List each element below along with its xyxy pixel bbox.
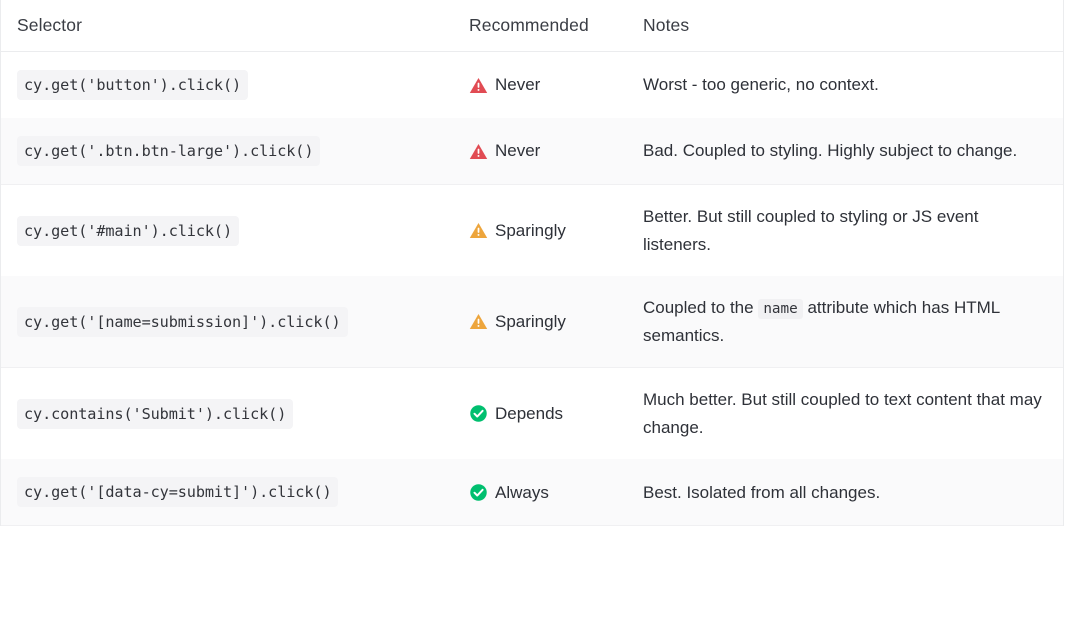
table-row: cy.get('button').click()NeverWorst - too… [1,52,1063,119]
cell-selector: cy.get('#main').click() [1,185,457,277]
selector-code-chip: cy.get('button').click() [17,70,248,100]
column-header-selector: Selector [1,0,457,52]
cell-notes: Much better. But still coupled to text c… [633,368,1063,460]
selector-code-chip: cy.get('.btn.btn-large').click() [17,136,320,166]
selector-recommendations-table-container: Selector Recommended Notes cy.get('butto… [0,0,1064,526]
table-row: cy.get('[name=submission]').click()Spari… [1,276,1063,368]
recommendation-badge: Sparingly [469,308,629,336]
warning-triangle-icon [469,76,488,95]
table-header-row: Selector Recommended Notes [1,0,1063,52]
cell-selector: cy.get('button').click() [1,52,457,119]
recommendation-label: Sparingly [495,308,566,336]
cell-recommended: Never [457,118,633,185]
table-row: cy.contains('Submit').click()DependsMuch… [1,368,1063,460]
recommendation-label: Never [495,137,540,165]
recommendation-label: Never [495,71,540,99]
cell-recommended: Always [457,459,633,526]
cell-selector: cy.get('[name=submission]').click() [1,276,457,368]
notes-text: Much better. But still coupled to text c… [643,390,1042,437]
warning-triangle-icon [469,312,488,331]
table-body: cy.get('button').click()NeverWorst - too… [1,52,1063,526]
recommendation-label: Sparingly [495,217,566,245]
check-circle-icon [469,404,488,423]
recommendation-badge: Never [469,137,629,165]
cell-notes: Coupled to the name attribute which has … [633,276,1063,368]
table-header: Selector Recommended Notes [1,0,1063,52]
cell-recommended: Depends [457,368,633,460]
table-row: cy.get('.btn.btn-large').click()NeverBad… [1,118,1063,185]
cell-selector: cy.contains('Submit').click() [1,368,457,460]
recommendation-badge: Always [469,479,629,507]
check-circle-icon [469,483,488,502]
selector-recommendations-table: Selector Recommended Notes cy.get('butto… [1,0,1063,526]
notes-text: Coupled to the [643,298,758,317]
cell-notes: Better. But still coupled to styling or … [633,185,1063,277]
warning-triangle-icon [469,221,488,240]
cell-notes: Bad. Coupled to styling. Highly subject … [633,118,1063,185]
cell-selector: cy.get('[data-cy=submit]').click() [1,459,457,526]
cell-selector: cy.get('.btn.btn-large').click() [1,118,457,185]
cell-recommended: Sparingly [457,185,633,277]
notes-text: Better. But still coupled to styling or … [643,207,978,254]
selector-code-chip: cy.contains('Submit').click() [17,399,293,429]
column-header-notes: Notes [633,0,1063,52]
recommendation-badge: Sparingly [469,217,629,245]
recommendation-badge: Never [469,71,629,99]
selector-code-chip: cy.get('#main').click() [17,216,239,246]
recommendation-badge: Depends [469,400,629,428]
cell-notes: Best. Isolated from all changes. [633,459,1063,526]
notes-inline-code: name [758,299,802,319]
notes-text: Worst - too generic, no context. [643,75,879,94]
selector-code-chip: cy.get('[name=submission]').click() [17,307,348,337]
notes-text: Best. Isolated from all changes. [643,483,880,502]
selector-code-chip: cy.get('[data-cy=submit]').click() [17,477,338,507]
column-header-recommended: Recommended [457,0,633,52]
warning-triangle-icon [469,142,488,161]
cell-recommended: Never [457,52,633,119]
table-row: cy.get('[data-cy=submit]').click()Always… [1,459,1063,526]
cell-recommended: Sparingly [457,276,633,368]
notes-text: Bad. Coupled to styling. Highly subject … [643,141,1017,160]
recommendation-label: Depends [495,400,563,428]
cell-notes: Worst - too generic, no context. [633,52,1063,119]
recommendation-label: Always [495,479,549,507]
table-row: cy.get('#main').click()SparinglyBetter. … [1,185,1063,277]
